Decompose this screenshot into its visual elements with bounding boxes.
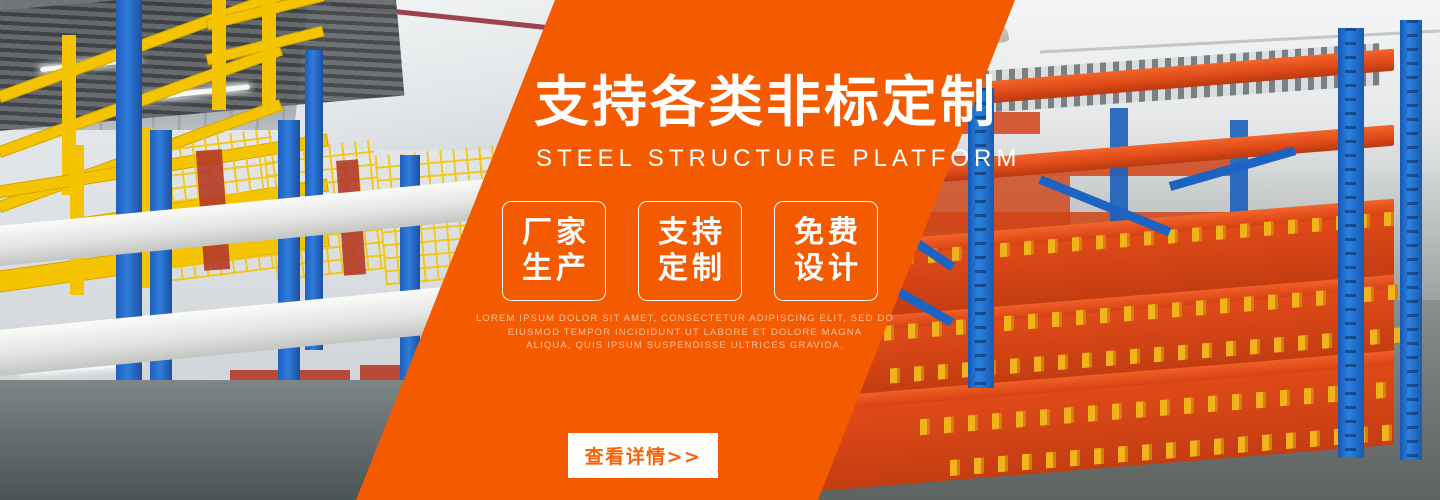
description-line-3: ALIQUA, QUIS IPSUM SUSPENDISSE ULTRICES … — [460, 339, 910, 353]
description-line-1: LOREM IPSUM DOLOR SIT AMET, CONSECTETUR … — [460, 312, 910, 326]
page-title: 支持各类非标定制 — [534, 72, 998, 132]
badge-line-2: 定制 — [654, 251, 726, 287]
feature-badge-factory-production: 厂家 生产 — [502, 201, 606, 301]
feature-badge-free-design: 免费 设计 — [774, 201, 878, 301]
description-text: LOREM IPSUM DOLOR SIT AMET, CONSECTETUR … — [460, 312, 910, 353]
banner-content: 支持各类非标定制 STEEL STRUCTURE PLATFORM 厂家 生产 … — [0, 0, 1440, 500]
feature-badge-custom-support: 支持 定制 — [638, 201, 742, 301]
view-details-button[interactable]: 查看详情>> — [568, 433, 718, 478]
badge-line-1: 免费 — [790, 215, 862, 251]
promo-banner: 支持各类非标定制 STEEL STRUCTURE PLATFORM 厂家 生产 … — [0, 0, 1440, 500]
feature-badge-list: 厂家 生产 支持 定制 免费 设计 — [502, 201, 878, 301]
description-line-2: EIUSMOD TEMPOR INCIDIDUNT UT LABORE ET D… — [460, 326, 910, 340]
badge-line-2: 设计 — [790, 251, 862, 287]
badge-line-2: 生产 — [518, 251, 590, 287]
badge-line-1: 厂家 — [518, 215, 590, 251]
subtitle: STEEL STRUCTURE PLATFORM — [536, 145, 1021, 173]
badge-line-1: 支持 — [654, 215, 726, 251]
view-details-label: 查看详情>> — [585, 442, 702, 469]
